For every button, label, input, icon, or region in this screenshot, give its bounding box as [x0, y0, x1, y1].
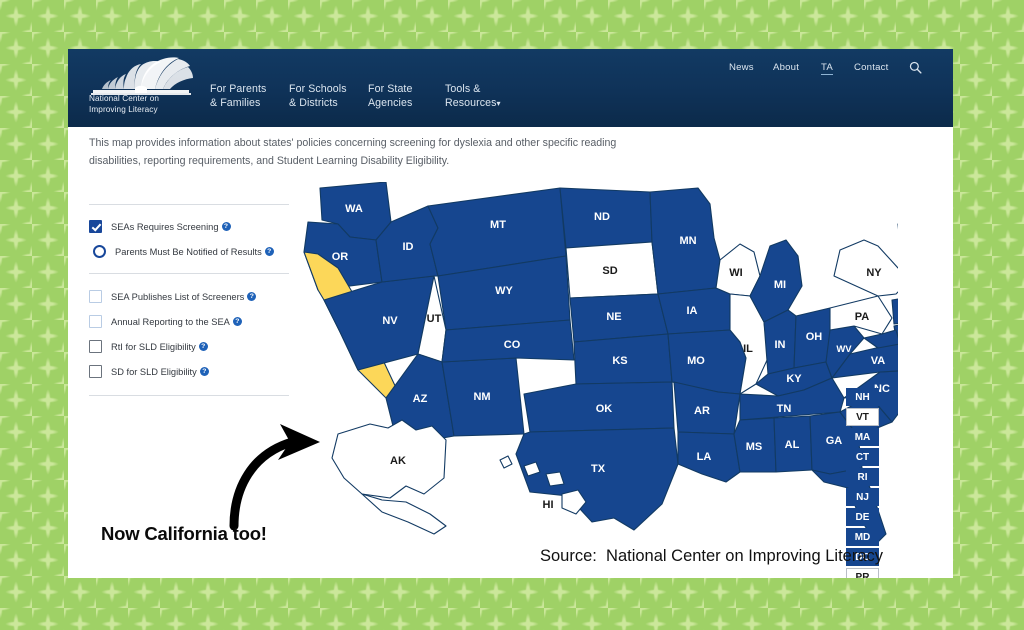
map-label-IA: IA	[687, 305, 698, 317]
site-logo[interactable]: National Center on Improving Literacy	[89, 56, 193, 118]
map-label-WA: WA	[345, 203, 363, 215]
map-label-VA: VA	[871, 355, 886, 367]
checkbox-checked-icon[interactable]	[89, 220, 102, 233]
map-label-OK: OK	[596, 403, 613, 415]
map-label-OH: OH	[806, 331, 823, 343]
nav-label: TA	[821, 62, 833, 73]
search-icon[interactable]	[909, 61, 922, 74]
nav-label: Contact	[854, 62, 888, 73]
state-HI-1[interactable]	[500, 456, 512, 468]
map-label-NE: NE	[606, 311, 621, 323]
legend-item-label: SEAs Requires Screening	[111, 222, 219, 232]
map-label-MN: MN	[679, 235, 696, 247]
legend-seas-requires-screening[interactable]: SEAs Requires Screening ?	[89, 214, 289, 239]
page-background: National Center on Improving Literacy Fo…	[0, 0, 1024, 630]
map-label-PA: PA	[855, 311, 870, 323]
legend-parents-must-be-notified[interactable]: Parents Must Be Notified of Results ?	[89, 239, 289, 264]
legend-item-label: SD for SLD Eligibility	[111, 367, 197, 377]
help-icon[interactable]: ?	[265, 247, 274, 256]
map-label-ND: ND	[594, 211, 610, 223]
nav-label: For State Agencies	[368, 83, 412, 109]
legend-item-label: SEA Publishes List of Screeners	[111, 292, 244, 302]
map-label-ID: ID	[403, 241, 414, 253]
legend-item-label: Annual Reporting to the SEA	[111, 317, 230, 327]
state-NJ[interactable]	[892, 298, 898, 324]
chip-NJ[interactable]: NJ	[846, 488, 879, 506]
map-label-IN: IN	[775, 339, 786, 351]
logo-text: National Center on Improving Literacy	[89, 94, 193, 115]
chip-NH[interactable]: NH	[846, 388, 879, 406]
card-body: This map provides information about stat…	[68, 127, 953, 578]
map-label-TN: TN	[777, 403, 792, 415]
chip-label: PR	[856, 572, 870, 579]
help-icon[interactable]: ?	[199, 342, 208, 351]
help-icon[interactable]: ?	[247, 292, 256, 301]
nav-label: About	[773, 62, 799, 73]
nav-label: News	[729, 62, 754, 73]
chip-label: CT	[856, 452, 869, 463]
nav-ta[interactable]: TA	[821, 62, 833, 75]
map-label-UT: UT	[427, 313, 442, 325]
map-label-OR: OR	[332, 251, 349, 263]
map-label-NY: NY	[866, 267, 882, 279]
chip-label: NH	[855, 392, 869, 403]
nav-for-parents-families[interactable]: For Parents & Families	[210, 68, 266, 110]
intro-paragraph: This map provides information about stat…	[89, 134, 634, 170]
chip-PR[interactable]: PR	[846, 568, 879, 578]
state-AK-tail[interactable]	[362, 494, 446, 534]
map-label-GA: GA	[826, 435, 843, 447]
chip-label: DE	[856, 512, 870, 523]
chip-label: MA	[855, 432, 871, 443]
chevron-down-icon: ▾	[497, 99, 501, 108]
nav-tools-resources[interactable]: Tools & Resources▾	[445, 68, 501, 111]
state-TX[interactable]	[516, 428, 678, 530]
nav-label: For Parents & Families	[210, 83, 266, 109]
state-AK[interactable]	[332, 420, 446, 498]
chip-VT[interactable]: VT	[846, 408, 879, 426]
map-label-IL: IL	[743, 343, 753, 355]
map-label-SD: SD	[602, 265, 617, 277]
legend-rti-for-sld-eligibility[interactable]: RtI for SLD Eligibility ?	[89, 334, 289, 359]
help-icon[interactable]: ?	[233, 317, 242, 326]
nav-for-schools-districts[interactable]: For Schools & Districts	[289, 68, 347, 110]
legend-divider	[89, 395, 289, 396]
map-label-NV: NV	[382, 315, 398, 327]
legend-divider	[89, 204, 289, 205]
map-label-LA: LA	[697, 451, 712, 463]
source-attribution: Source: National Center on Improving Lit…	[540, 547, 883, 566]
help-icon[interactable]: ?	[200, 367, 209, 376]
nav-for-state-agencies[interactable]: For State Agencies	[368, 68, 412, 110]
legend-divider	[89, 273, 289, 274]
map-label-MT: MT	[490, 219, 506, 231]
map-label-WI: WI	[729, 267, 742, 279]
map-label-WV: WV	[836, 344, 852, 355]
map-svg: WA OR ID MT WY NV UT AZ NM CO ND SD NE K…	[278, 182, 898, 577]
help-icon[interactable]: ?	[222, 222, 231, 231]
map-label-NM: NM	[473, 391, 490, 403]
site-header: National Center on Improving Literacy Fo…	[68, 49, 953, 127]
radio-unchecked-icon[interactable]	[93, 245, 106, 258]
chip-DE[interactable]: DE	[846, 508, 879, 526]
chip-label: RI	[858, 472, 868, 483]
chip-label: MD	[855, 532, 871, 543]
curved-arrow-to-california	[218, 410, 348, 530]
checkbox-unchecked-icon[interactable]	[89, 290, 102, 303]
legend-annual-reporting-to-the-sea[interactable]: Annual Reporting to the SEA ?	[89, 309, 289, 334]
book-logo-icon	[89, 56, 193, 96]
map-label-CO: CO	[504, 339, 521, 351]
nav-label: Tools & Resources	[445, 83, 497, 109]
checkbox-unchecked-icon[interactable]	[89, 315, 102, 328]
nav-news[interactable]: News	[729, 62, 754, 73]
nav-about[interactable]: About	[773, 62, 799, 73]
map-label-AZ: AZ	[413, 393, 428, 405]
chip-label: NJ	[856, 492, 869, 503]
chip-CT[interactable]: CT	[846, 448, 879, 466]
map-label-AK: AK	[390, 455, 406, 467]
checkbox-unchecked-icon[interactable]	[89, 365, 102, 378]
map-label-MO: MO	[687, 355, 705, 367]
map-label-MS: MS	[746, 441, 763, 453]
nav-contact[interactable]: Contact	[854, 62, 888, 73]
nav-label: For Schools & Districts	[289, 83, 347, 109]
chip-RI[interactable]: RI	[846, 468, 879, 486]
map-label-KY: KY	[786, 373, 802, 385]
legend-sea-publishes-list-of-screeners[interactable]: SEA Publishes List of Screeners ?	[89, 284, 289, 309]
map-label-AL: AL	[785, 439, 800, 451]
checkbox-unchecked-icon[interactable]	[89, 340, 102, 353]
content-card: National Center on Improving Literacy Fo…	[68, 49, 953, 578]
map-label-WY: WY	[495, 285, 513, 297]
legend-sd-for-sld-eligibility[interactable]: SD for SLD Eligibility ?	[89, 359, 289, 384]
map-label-MI: MI	[774, 279, 786, 291]
chip-label: VT	[856, 412, 869, 423]
callout-text: Now California too!	[101, 523, 267, 545]
map-label-AR: AR	[694, 405, 710, 417]
legend-item-label: RtI for SLD Eligibility	[111, 342, 196, 352]
map-label-KS: KS	[612, 355, 627, 367]
map-label-HI: HI	[543, 499, 554, 511]
legend-item-label: Parents Must Be Notified of Results	[115, 247, 262, 257]
chip-MA[interactable]: MA	[846, 428, 879, 446]
chip-MD[interactable]: MD	[846, 528, 879, 546]
legend-panel: SEAs Requires Screening ? Parents Must B…	[89, 204, 289, 396]
map-label-TX: TX	[591, 463, 606, 475]
us-choropleth-map[interactable]: WA OR ID MT WY NV UT AZ NM CO ND SD NE K…	[278, 182, 898, 577]
